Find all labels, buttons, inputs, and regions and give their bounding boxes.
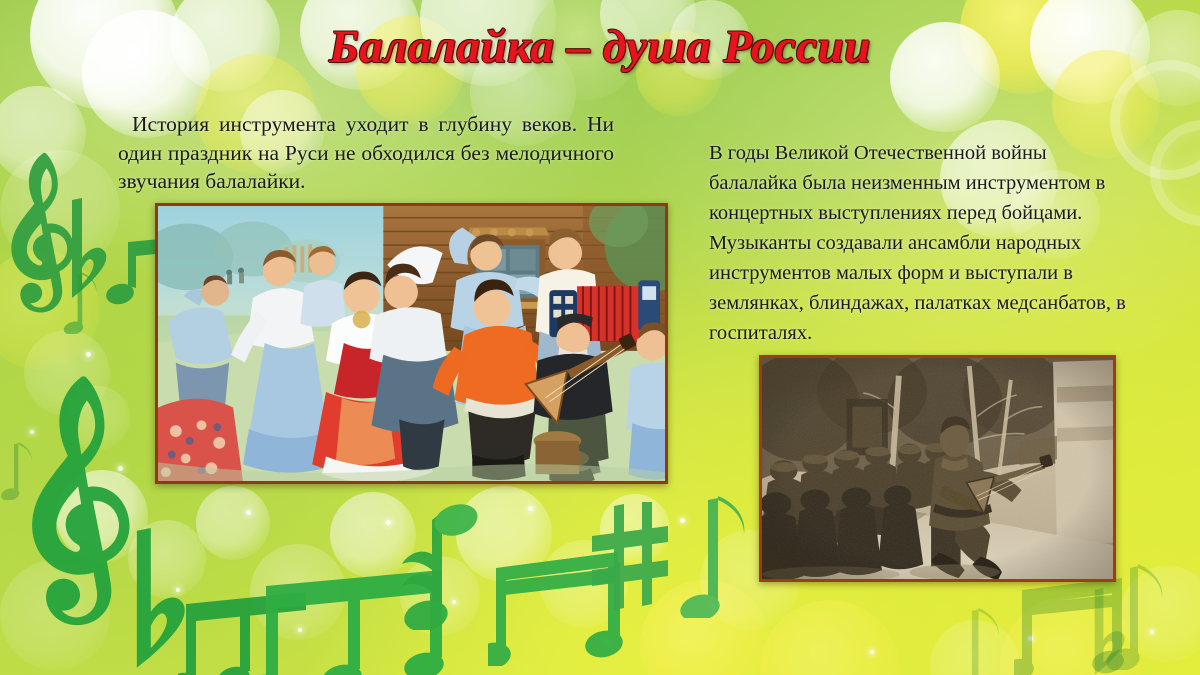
wartime-paragraph: В годы Великой Отечественной войны балал… [709, 138, 1139, 348]
slide-canvas: Балалайка – душа России История инструме… [0, 0, 1200, 675]
russian-folk-dance-painting [155, 203, 668, 484]
intro-paragraph: История инструмента уходит в глубину век… [118, 110, 614, 196]
page-title: Балалайка – душа России [0, 22, 1200, 74]
wwii-soldiers-balalaika-photo [759, 355, 1116, 582]
